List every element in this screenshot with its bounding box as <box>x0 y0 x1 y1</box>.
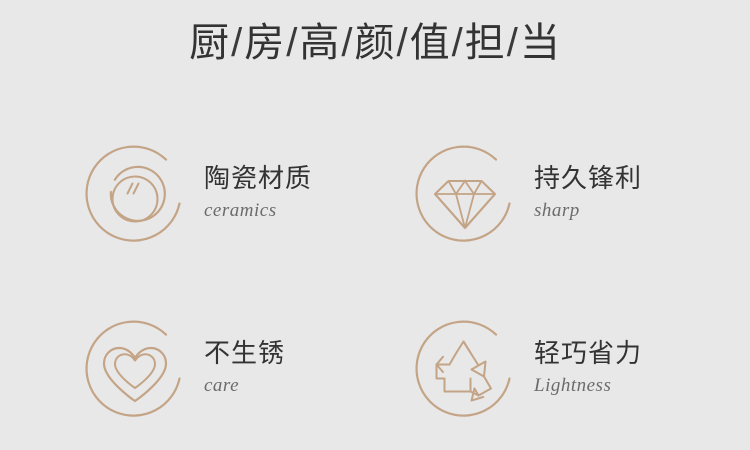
feature-subtitle-lightness: Lightness <box>534 374 642 398</box>
feature-title-ceramics: 陶瓷材质 <box>204 162 312 194</box>
feature-title-care: 不生锈 <box>204 337 285 369</box>
feature-title-sharp: 持久锋利 <box>534 162 642 194</box>
title-char-1: 厨 <box>189 21 230 65</box>
title-separator-6: / <box>506 21 520 65</box>
feature-text-sharp: 持久锋利 sharp <box>530 162 642 229</box>
title-char-3: 高 <box>299 21 340 65</box>
feature-subtitle-sharp: sharp <box>534 199 642 223</box>
title-separator-1: / <box>230 21 244 65</box>
title-separator-3: / <box>340 21 354 65</box>
promo-banner: 厨/房/高/颜/值/担/当 陶瓷材质 c <box>0 0 750 450</box>
feature-text-lightness: 轻巧省力 Lightness <box>530 337 642 404</box>
title-char-7: 当 <box>520 21 561 65</box>
title-separator-4: / <box>396 21 410 65</box>
feature-text-ceramics: 陶瓷材质 ceramics <box>200 162 312 229</box>
title-separator-2: / <box>285 21 299 65</box>
feature-text-care: 不生锈 care <box>200 337 285 404</box>
recycle-icon <box>400 306 530 436</box>
feature-title-lightness: 轻巧省力 <box>534 337 642 369</box>
title-char-4: 颜 <box>355 21 396 65</box>
page-title: 厨/房/高/颜/值/担/当 <box>0 16 750 70</box>
page-title-text: 厨/房/高/颜/值/担/当 <box>189 16 561 70</box>
feature-item-ceramics: 陶瓷材质 ceramics <box>70 108 400 283</box>
feature-item-sharp: 持久锋利 sharp <box>400 108 690 283</box>
title-char-2: 房 <box>244 21 285 65</box>
heart-icon <box>70 306 200 436</box>
title-char-5: 值 <box>410 21 451 65</box>
feature-item-care: 不生锈 care <box>70 283 400 450</box>
diamond-icon <box>400 131 530 261</box>
ceramic-plate-icon <box>70 131 200 261</box>
feature-grid: 陶瓷材质 ceramics 持久锋利 <box>70 108 690 450</box>
feature-subtitle-ceramics: ceramics <box>204 199 312 223</box>
title-separator-5: / <box>451 21 465 65</box>
feature-subtitle-care: care <box>204 374 285 398</box>
feature-item-lightness: 轻巧省力 Lightness <box>400 283 690 450</box>
title-char-6: 担 <box>465 21 506 65</box>
